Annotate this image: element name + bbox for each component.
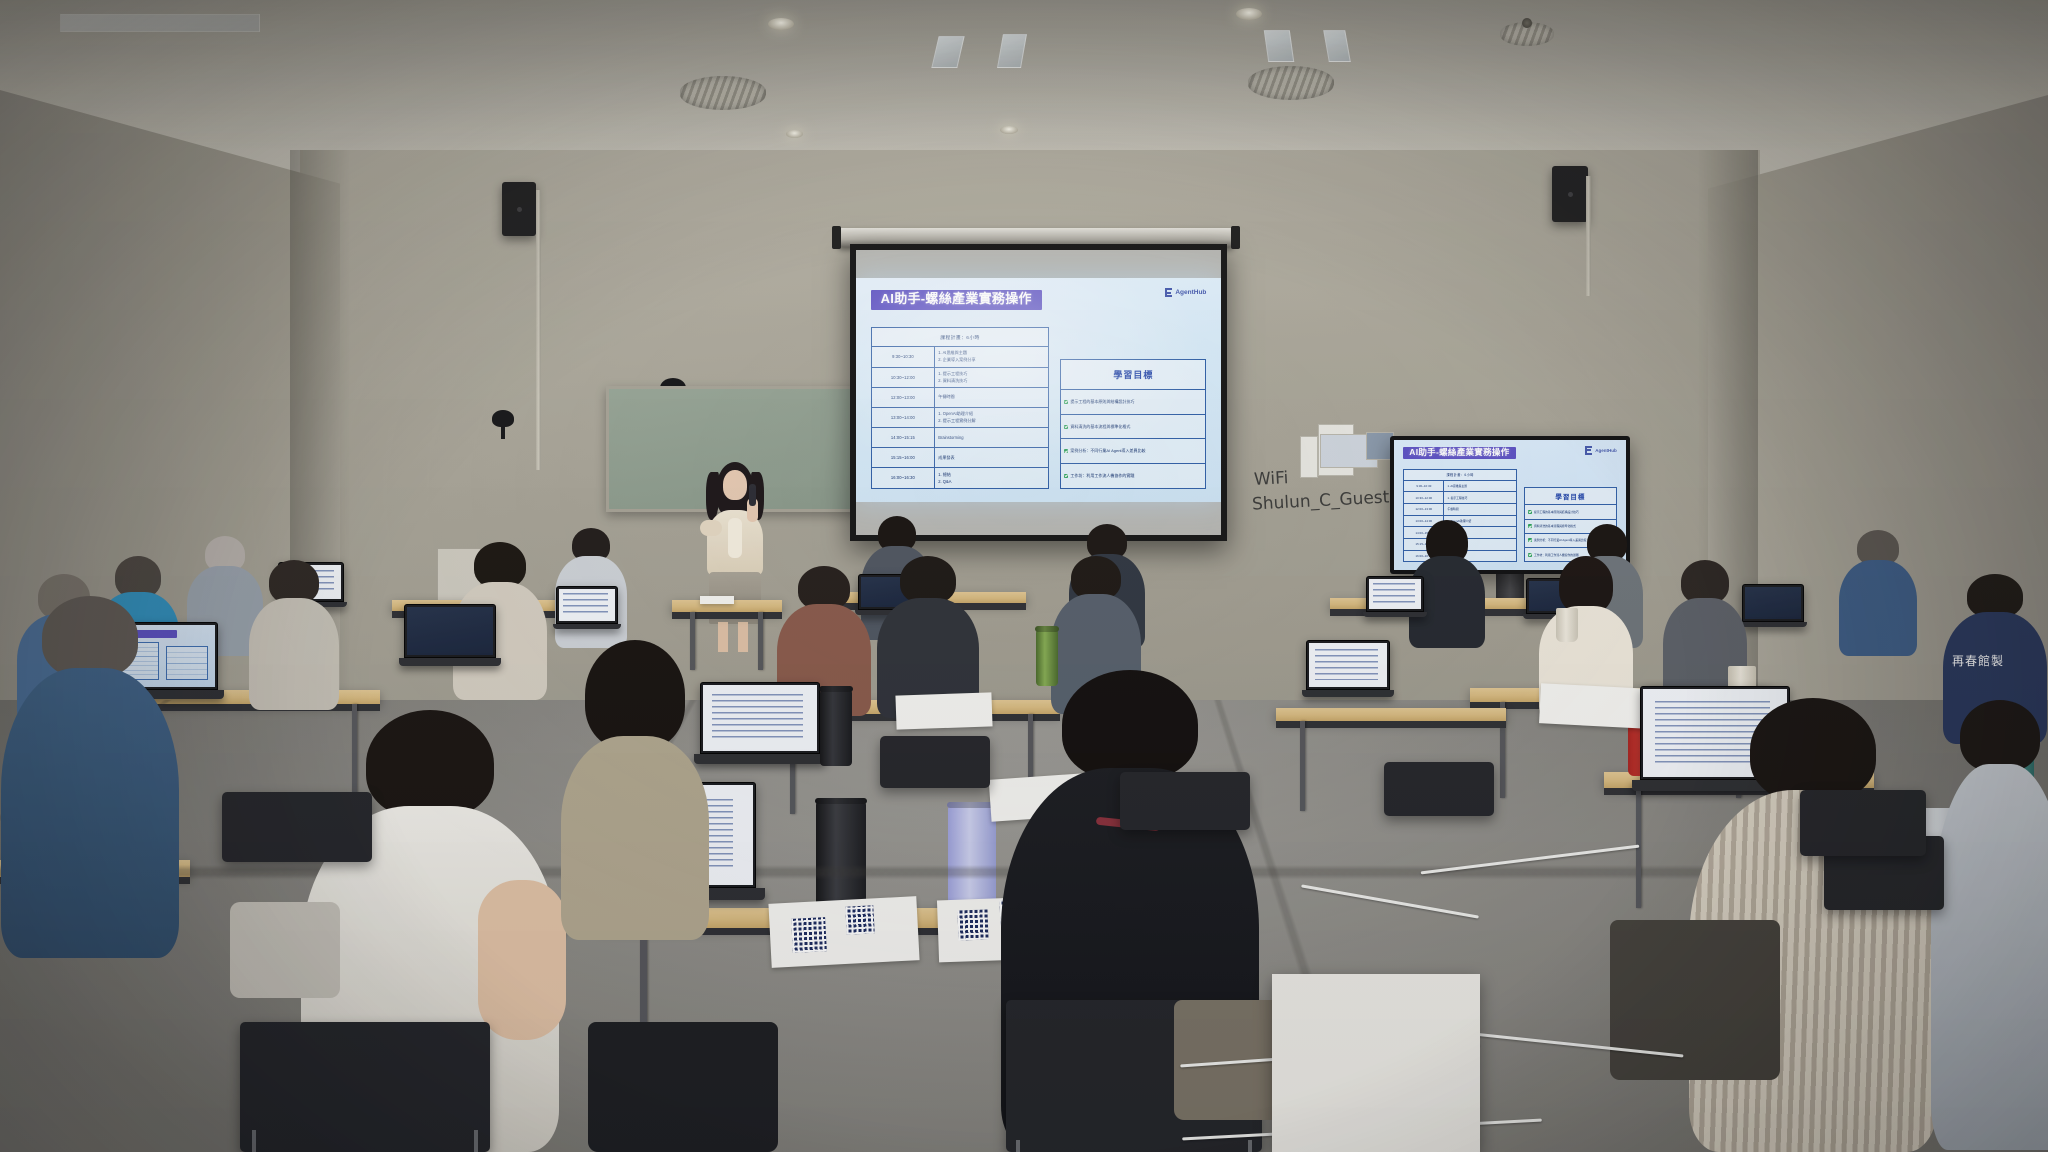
laptop-base[interactable] (399, 658, 501, 666)
desk-leg (1300, 721, 1305, 811)
goal-text: 工作坊：利用工作流人機協作的實踐 (1070, 473, 1134, 479)
slide-goals-box: 學習目標 提示工程的基本原則與結構設計技巧 資料清洗的基本流程與標準化格式 案例… (1060, 359, 1206, 489)
qr-code-3 (957, 909, 988, 940)
laptop-screen[interactable] (407, 607, 493, 655)
tv-agenda-content: 1. AI思維與主題 (1444, 481, 1515, 492)
agenda-content: Brainstorming (935, 428, 1048, 447)
agenda-row: 12:00~13:00 午餐時間 (872, 388, 1049, 408)
check-icon (1064, 400, 1068, 404)
laptop-base[interactable] (694, 754, 826, 764)
presenter-head (723, 470, 747, 500)
ceiling-downlight-4 (786, 130, 803, 138)
attendee-mid-3 (248, 560, 340, 710)
agenthub-logo-icon (1585, 446, 1592, 455)
laptop-base[interactable] (1302, 690, 1394, 697)
chair-mid-right[interactable] (1800, 790, 1926, 856)
projection-screen-surface: AI助手-螺絲產業實務操作 AgentHub 課程計畫：6小時 9:30~10:… (856, 250, 1221, 535)
tv-agenda-time: 9:30~10:30 (1404, 481, 1444, 492)
check-icon (1064, 425, 1068, 429)
handout-5 (1539, 683, 1649, 729)
laptop-mid-3[interactable] (700, 682, 820, 764)
agenda-content: 1. OpenAI助理介紹 2. 提示工程實例分解 (935, 408, 1048, 427)
wall-speaker-right (1552, 166, 1588, 222)
attendee-back-7 (1838, 530, 1918, 656)
purple-tumbler (948, 806, 996, 910)
agenthub-logo-icon (1165, 288, 1172, 297)
foreground-sign-card (1272, 974, 1480, 1152)
laptop-lid (1306, 640, 1390, 690)
goal-item: 案例分析：不同行業AI Agent導入差異比較 (1061, 439, 1205, 464)
agenda-item: 2. 資料清洗技巧 (938, 378, 1045, 384)
check-icon (1528, 510, 1532, 514)
shirt-print-text: 再春館製 (1952, 652, 2004, 669)
classroom-photo: WiFi Shulun_C_Guest AI助手-螺絲產業實務操作 AgentH… (0, 0, 2048, 1152)
tv-goals-heading: 學習目標 (1525, 488, 1616, 506)
shirt (1931, 764, 2048, 1150)
tv-agenda-row: 10:30~12:00 1. 提示工程技巧 (1404, 492, 1516, 504)
check-icon (1064, 449, 1068, 453)
arm (478, 880, 566, 1040)
ceiling-downlight-2 (1236, 8, 1262, 20)
microphone (749, 484, 756, 506)
hair (366, 710, 494, 818)
agenda-item: 2. Q&A (938, 479, 1045, 484)
laptop-screen[interactable] (1309, 643, 1387, 687)
tv-goal-item: 提示工程的基本原則與結構設計技巧 (1525, 505, 1616, 519)
goal-text: 案例分析：不同行業AI Agent導入差異比較 (1070, 448, 1145, 454)
coffee-cup-2 (1556, 608, 1578, 642)
check-icon (1064, 474, 1068, 478)
hair (900, 556, 956, 604)
agenda-time: 16:00~16:30 (872, 468, 936, 487)
wall-notice-2 (1300, 436, 1318, 478)
projected-slide: AI助手-螺絲產業實務操作 AgentHub 課程計畫：6小時 9:30~10:… (856, 278, 1221, 502)
wall-speaker-left (502, 182, 536, 236)
agenda-item: 2. 企業導入案例分享 (938, 357, 1045, 363)
attendee-front-far-left (0, 596, 180, 1016)
tv-agenda-time: 10:30~12:00 (1404, 492, 1444, 503)
laptop-screen[interactable] (559, 589, 615, 621)
tv-agenda-content: 1. 提示工程技巧 (1444, 492, 1515, 503)
presenter-notes (700, 596, 734, 604)
tv-agenda-row: 12:00~13:00 午餐時間 (1404, 504, 1516, 516)
qr-code-2 (845, 905, 874, 934)
check-icon (1528, 538, 1532, 542)
agenda-row: 9:30~10:30 1. AI思維與主題 2. 企業導入案例分享 (872, 347, 1049, 367)
goal-item: 工作坊：利用工作流人機協作的實踐 (1061, 464, 1205, 488)
hair (585, 640, 685, 750)
projection-screen: AI助手-螺絲產業實務操作 AgentHub 課程計畫：6小時 9:30~10:… (850, 244, 1227, 541)
agenda-row: 16:00~16:30 1. 總結 2. Q&A (872, 468, 1049, 487)
handout-4 (895, 692, 992, 729)
ceiling-downlight-1 (768, 18, 794, 30)
slide-agenda-table: 課程計畫：6小時 9:30~10:30 1. AI思維與主題 2. 企業導入案例… (871, 327, 1050, 488)
laptop-back-6[interactable] (1742, 584, 1804, 628)
agenda-item: Brainstorming (938, 435, 1045, 440)
agenda-content: 午餐時間 (935, 388, 1048, 407)
tv-agenda-header: 課程計畫：6小時 (1404, 470, 1516, 481)
slide-logo: AgentHub (1165, 288, 1206, 297)
screen-content (703, 685, 817, 751)
presenter-leg-left (718, 622, 728, 652)
agenda-row: 15:15~16:00 成果發表 (872, 448, 1049, 468)
agenda-row: 13:00~14:00 1. OpenAI助理介紹 2. 提示工程實例分解 (872, 408, 1049, 428)
agenda-row: 14:00~15:15 Brainstorming (872, 428, 1049, 448)
tv-agenda-time: 12:00~13:00 (1404, 504, 1444, 515)
presenter-bow-tie (728, 518, 742, 558)
shirt (249, 598, 339, 710)
agenda-time: 15:15~16:00 (872, 448, 936, 467)
agenda-item: 1. 提示工程技巧 (938, 371, 1045, 377)
agenda-time: 10:30~12:00 (872, 368, 936, 387)
wall-conduit-right (1586, 176, 1591, 296)
agenda-item: 1. OpenAI助理介紹 (938, 411, 1045, 417)
qr-code-1 (791, 917, 827, 953)
agenda-time: 12:00~13:00 (872, 388, 936, 407)
laptop-screen[interactable] (1745, 587, 1801, 619)
agenda-content: 1. 提示工程技巧 2. 資料清洗技巧 (935, 368, 1048, 387)
laptop-back-4[interactable] (1366, 576, 1424, 618)
laptop-lid (404, 604, 496, 658)
goal-text: 資料清洗的基本流程與標準化格式 (1070, 424, 1130, 430)
hair (1960, 700, 2040, 772)
agenda-item: 1. 總結 (938, 472, 1045, 478)
check-icon (1528, 553, 1532, 557)
laptop-lid (1742, 584, 1804, 622)
agenda-row: 10:30~12:00 1. 提示工程技巧 2. 資料清洗技巧 (872, 368, 1049, 388)
tv-slide-logo-text: AgentHub (1595, 448, 1617, 453)
shirt (1839, 560, 1917, 656)
check-icon (1528, 524, 1532, 528)
presenter-arm-left (700, 520, 722, 536)
ceiling-light-panel-3 (1264, 30, 1294, 62)
agenda-header: 課程計畫：6小時 (872, 328, 1049, 347)
tv-agenda-row: 9:30~10:30 1. AI思維與主題 (1404, 481, 1516, 493)
whiteboard-wifi-label: WiFi (1253, 467, 1289, 492)
wall-camera-icon (492, 410, 514, 427)
goal-item: 提示工程的基本原則與結構設計技巧 (1061, 390, 1205, 415)
chair-mid-center[interactable] (1120, 772, 1250, 830)
chair-back-center[interactable] (880, 736, 990, 788)
goal-text: 提示工程的基本原則與結構設計技巧 (1070, 399, 1134, 405)
laptop-screen[interactable] (1369, 579, 1421, 609)
black-tumbler-1 (816, 802, 866, 914)
wall-conduit-left (536, 190, 541, 470)
chair-back-right[interactable] (1384, 762, 1494, 816)
hair (42, 596, 138, 678)
hair (1062, 670, 1198, 780)
agenda-item: 午餐時間 (938, 394, 1045, 400)
tshirt (1, 668, 179, 958)
slide-title: AI助手-螺絲產業實務操作 (871, 290, 1042, 310)
chair-frame-front-center (1016, 1140, 1252, 1152)
screen-content (559, 589, 615, 621)
hair (1750, 698, 1876, 802)
screen-content (1309, 643, 1387, 687)
laptop-mid-5[interactable] (1306, 640, 1390, 696)
slide-logo-text: AgentHub (1175, 289, 1206, 296)
black-tumbler-2 (820, 690, 852, 766)
ceiling-downlight-3 (1000, 126, 1018, 134)
agenda-content: 1. 總結 2. Q&A (935, 468, 1048, 487)
laptop-lid (1366, 576, 1424, 612)
laptop-lid (556, 586, 618, 624)
desk-mid-right-2 (1276, 708, 1506, 721)
goal-item: 資料清洗的基本流程與標準化格式 (1061, 415, 1205, 440)
ceiling-diffuser-left (60, 14, 260, 32)
presenter-hair-left (706, 472, 719, 520)
agenda-content: 1. AI思維與主題 2. 企業導入案例分享 (935, 347, 1048, 366)
attendee-front-left-2 (560, 640, 710, 940)
laptop-base[interactable] (1363, 612, 1427, 617)
agenda-item: 成果發表 (938, 455, 1045, 461)
agenda-time: 13:00~14:00 (872, 408, 936, 427)
presenter-desk-leg (758, 612, 763, 670)
chair-mid-left[interactable] (222, 792, 372, 862)
tv-slide-title: AI助手-螺絲產業實務操作 (1403, 447, 1515, 459)
ceiling-air-vent-1 (680, 76, 766, 110)
laptop-base[interactable] (1739, 622, 1807, 627)
chair-frame-front-left (252, 1130, 478, 1152)
ceiling-air-vent-2 (1248, 66, 1334, 100)
bag-under-desk-3 (230, 902, 340, 998)
agenda-time: 9:30~10:30 (872, 347, 936, 366)
tv-goal-text: 提示工程的基本原則與結構設計技巧 (1534, 510, 1579, 514)
screen-content (1369, 579, 1421, 609)
laptop-back-2[interactable] (556, 586, 618, 630)
shirt (561, 736, 709, 940)
laptop-screen[interactable] (703, 685, 817, 751)
bag-under-desk-2 (1610, 920, 1780, 1080)
agenda-item: 2. 提示工程實例分解 (938, 418, 1045, 424)
laptop-base[interactable] (553, 624, 621, 629)
attendee-front-far-right (1930, 700, 2048, 1150)
laptop-mid-2[interactable] (404, 604, 496, 666)
agenda-time: 14:00~15:15 (872, 428, 936, 447)
tv-slide-logo: AgentHub (1585, 446, 1617, 455)
agenda-item: 1. AI思維與主題 (938, 350, 1045, 356)
tv-agenda-content: 午餐時間 (1444, 504, 1515, 515)
agenda-content: 成果發表 (935, 448, 1048, 467)
laptop-lid (700, 682, 820, 754)
bag-under-desk-1 (588, 1022, 778, 1152)
presenter-leg-right (738, 622, 748, 652)
desk-leg (1636, 788, 1641, 908)
ceiling-sprinkler (1522, 18, 1532, 28)
goals-heading: 學習目標 (1061, 360, 1205, 391)
